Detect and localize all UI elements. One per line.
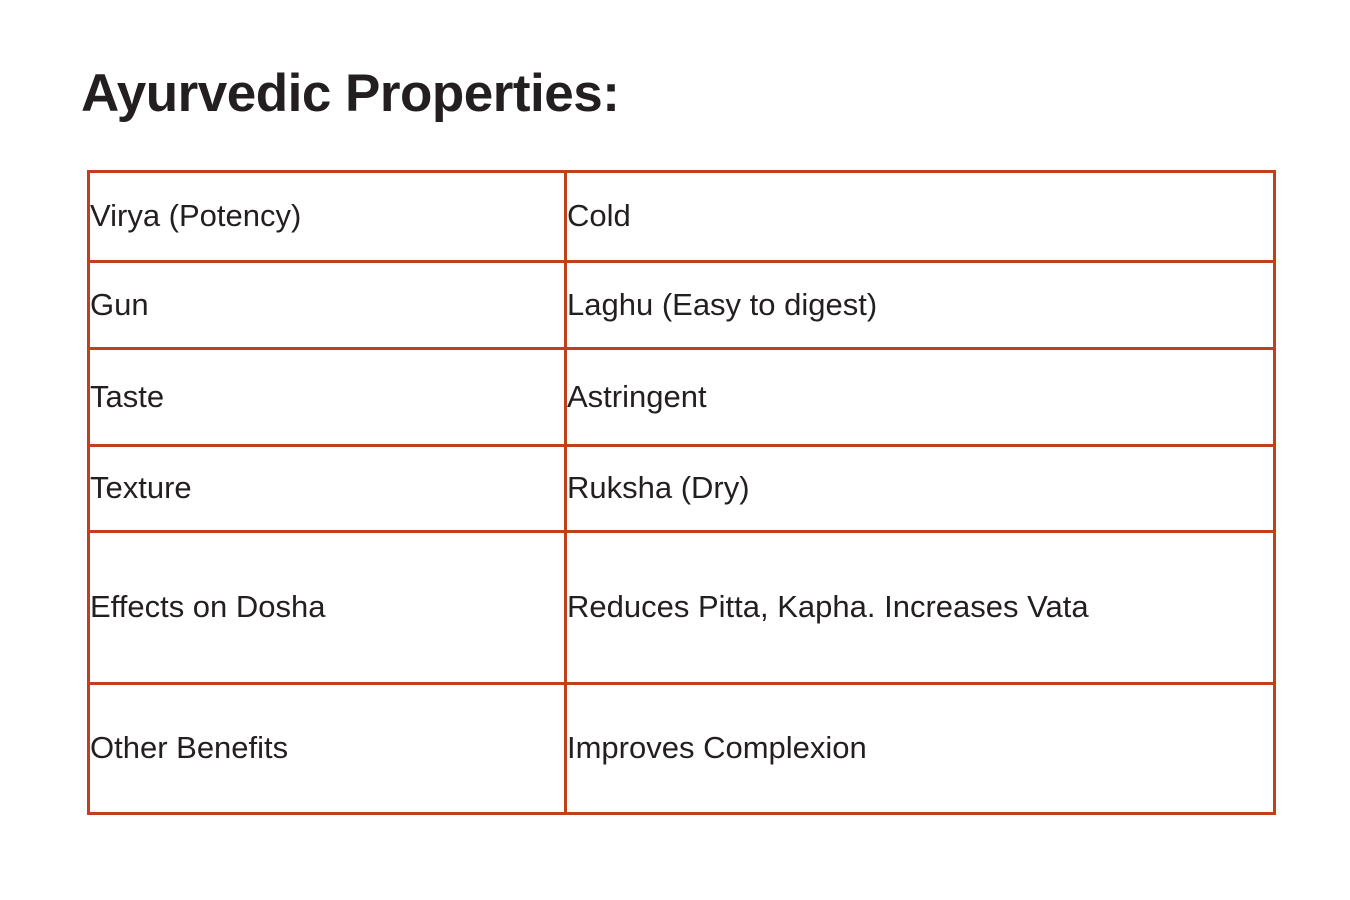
property-label: Taste — [90, 375, 564, 419]
page-root: Ayurvedic Properties: Virya (Potency) Co… — [0, 0, 1350, 900]
property-value-cell: Ruksha (Dry) — [566, 446, 1275, 532]
property-label-cell: Taste — [89, 349, 566, 446]
table-body: Virya (Potency) Cold Gun Laghu (Easy to … — [89, 172, 1275, 814]
property-label: Virya (Potency) — [90, 194, 564, 238]
property-value-cell: Cold — [566, 172, 1275, 262]
property-value: Cold — [567, 194, 1273, 238]
property-label: Effects on Dosha — [90, 585, 564, 629]
table-row: Gun Laghu (Easy to digest) — [89, 262, 1275, 349]
property-value: Laghu (Easy to digest) — [567, 283, 1273, 327]
property-label-cell: Effects on Dosha — [89, 532, 566, 684]
property-label-cell: Texture — [89, 446, 566, 532]
table-row: Virya (Potency) Cold — [89, 172, 1275, 262]
property-value: Improves Complexion — [567, 726, 1273, 770]
property-value: Reduces Pitta, Kapha. Increases Vata — [567, 585, 1273, 629]
property-value-cell: Reduces Pitta, Kapha. Increases Vata — [566, 532, 1275, 684]
table-row: Other Benefits Improves Complexion — [89, 684, 1275, 814]
property-value: Ruksha (Dry) — [567, 466, 1273, 510]
property-label: Other Benefits — [90, 726, 564, 770]
table-row: Texture Ruksha (Dry) — [89, 446, 1275, 532]
table-row: Taste Astringent — [89, 349, 1275, 446]
property-label-cell: Virya (Potency) — [89, 172, 566, 262]
property-value-cell: Improves Complexion — [566, 684, 1275, 814]
property-label-cell: Other Benefits — [89, 684, 566, 814]
property-label: Gun — [90, 283, 564, 327]
property-label-cell: Gun — [89, 262, 566, 349]
property-value: Astringent — [567, 375, 1273, 419]
ayurvedic-properties-table: Virya (Potency) Cold Gun Laghu (Easy to … — [87, 170, 1276, 815]
page-title: Ayurvedic Properties: — [81, 60, 619, 128]
property-value-cell: Laghu (Easy to digest) — [566, 262, 1275, 349]
table-row: Effects on Dosha Reduces Pitta, Kapha. I… — [89, 532, 1275, 684]
property-label: Texture — [90, 466, 564, 510]
property-value-cell: Astringent — [566, 349, 1275, 446]
